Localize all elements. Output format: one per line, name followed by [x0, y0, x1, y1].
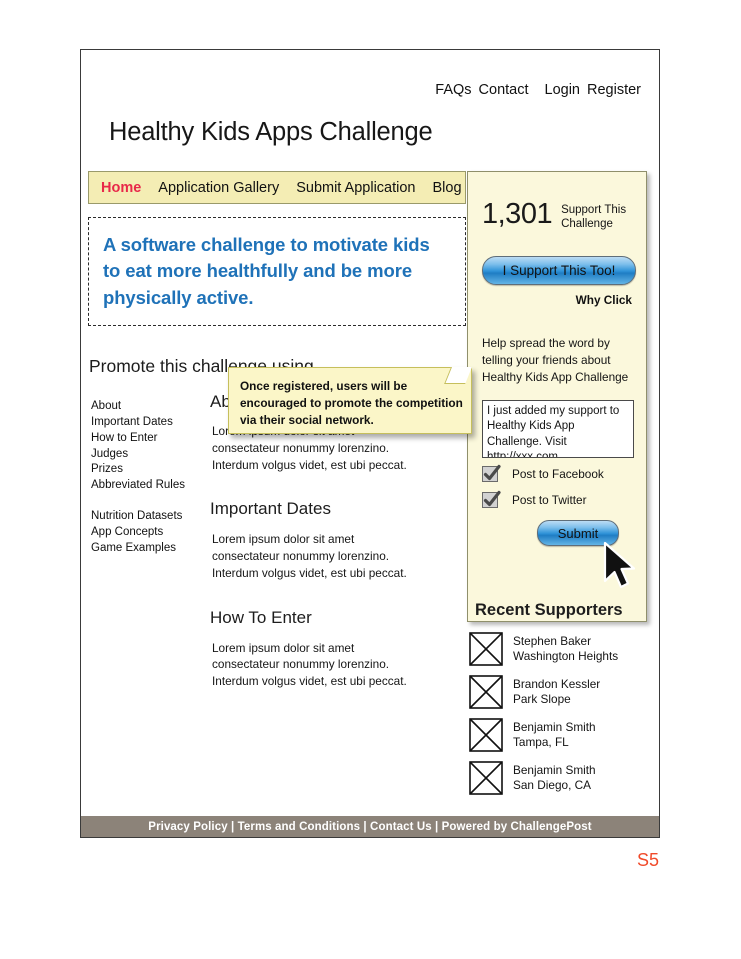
support-count-label: Support This Challenge — [561, 200, 633, 231]
hero-tagline: A software challenge to motivate kids to… — [103, 232, 451, 311]
why-click-link[interactable]: Why Click — [576, 293, 632, 307]
section-body-how-to-enter: Lorem ipsum dolor sit amet consectateur … — [212, 640, 421, 690]
section-nav-item-about[interactable]: About — [91, 399, 203, 415]
section-nav-item-judges[interactable]: Judges — [91, 447, 203, 463]
supporter-details: Stephen Baker Washington Heights — [513, 634, 618, 664]
utility-nav-group-account: Login Register — [545, 82, 641, 98]
checkmark-icon-twitter[interactable] — [482, 492, 498, 508]
utility-link-login[interactable]: Login — [545, 82, 580, 98]
share-message-input[interactable] — [482, 400, 634, 458]
section-nav-item-prizes[interactable]: Prizes — [91, 462, 203, 478]
supporter-name: Benjamin Smith — [513, 763, 596, 777]
content-section-important-dates: Important Dates Lorem ipsum dolor sit am… — [206, 499, 421, 581]
utility-link-faqs[interactable]: FAQs — [435, 82, 471, 98]
checkbox-row-twitter[interactable]: Post to Twitter — [482, 492, 587, 508]
section-nav-item-abbreviated-rules[interactable]: Abbreviated Rules — [91, 478, 203, 494]
checkmark-icon-facebook[interactable] — [482, 466, 498, 482]
supporter-location: Tampa, FL — [513, 735, 569, 749]
section-nav-group-primary: About Important Dates How to Enter Judge… — [91, 399, 203, 494]
section-nav: About Important Dates How to Enter Judge… — [91, 399, 203, 557]
annotation-callout-text: Once registered, users will be encourage… — [240, 378, 464, 428]
footer-bar: Privacy Policy | Terms and Conditions | … — [81, 816, 659, 837]
checkbox-row-facebook[interactable]: Post to Facebook — [482, 466, 604, 482]
site-title: Healthy Kids Apps Challenge — [109, 118, 432, 147]
content-column: About Lorem ipsum dolor sit amet consect… — [206, 392, 421, 716]
supporter-name: Stephen Baker — [513, 634, 591, 648]
section-nav-group-resources: Nutrition Datasets App Concepts Game Exa… — [91, 509, 203, 557]
nav-item-submit-application[interactable]: Submit Application — [296, 180, 415, 196]
nav-item-home[interactable]: Home — [101, 180, 141, 196]
utility-link-register[interactable]: Register — [587, 82, 641, 98]
annotation-callout: Once registered, users will be encourage… — [228, 367, 472, 434]
support-panel: 1,301 Support This Challenge I Support T… — [467, 171, 647, 622]
utility-nav: FAQs Contact Login Register — [435, 82, 641, 98]
support-this-too-button[interactable]: I Support This Too! — [482, 256, 636, 285]
checkbox-label-twitter: Post to Twitter — [512, 493, 587, 507]
supporter-item[interactable]: Benjamin Smith Tampa, FL — [467, 718, 652, 752]
supporter-item[interactable]: Brandon Kessler Park Slope — [467, 675, 652, 709]
hero-banner: A software challenge to motivate kids to… — [88, 217, 466, 326]
recent-supporters-heading: Recent Supporters — [475, 601, 652, 620]
content-section-how-to-enter: How To Enter Lorem ipsum dolor sit amet … — [206, 608, 421, 690]
main-nav: Home Application Gallery Submit Applicat… — [88, 171, 466, 204]
supporter-name: Brandon Kessler — [513, 677, 600, 691]
supporter-details: Brandon Kessler Park Slope — [513, 677, 600, 707]
utility-nav-group-help: FAQs Contact — [435, 82, 528, 98]
supporter-item[interactable]: Benjamin Smith San Diego, CA — [467, 761, 652, 795]
nav-item-application-gallery[interactable]: Application Gallery — [158, 180, 279, 196]
supporter-details: Benjamin Smith Tampa, FL — [513, 720, 596, 750]
section-nav-item-game-examples[interactable]: Game Examples — [91, 541, 203, 557]
checkbox-label-facebook: Post to Facebook — [512, 467, 604, 481]
section-heading-how-to-enter: How To Enter — [210, 608, 421, 628]
supporter-location: Park Slope — [513, 692, 571, 706]
section-heading-important-dates: Important Dates — [210, 499, 421, 519]
submit-button[interactable]: Submit — [537, 520, 619, 546]
section-nav-item-important-dates[interactable]: Important Dates — [91, 415, 203, 431]
supporter-location: Washington Heights — [513, 649, 618, 663]
spread-the-word-text: Help spread the word by telling your fri… — [482, 335, 640, 385]
avatar-placeholder-icon — [469, 675, 503, 709]
page-marker: S5 — [637, 850, 659, 871]
support-count: 1,301 — [482, 200, 552, 229]
avatar-placeholder-icon — [469, 718, 503, 752]
supporter-name: Benjamin Smith — [513, 720, 596, 734]
recent-supporters: Recent Supporters Stephen Baker Washingt… — [467, 601, 652, 804]
section-nav-item-nutrition-datasets[interactable]: Nutrition Datasets — [91, 509, 203, 525]
section-nav-item-app-concepts[interactable]: App Concepts — [91, 525, 203, 541]
utility-link-contact[interactable]: Contact — [479, 82, 529, 98]
avatar-placeholder-icon — [469, 761, 503, 795]
section-nav-item-how-to-enter[interactable]: How to Enter — [91, 431, 203, 447]
avatar-placeholder-icon — [469, 632, 503, 666]
nav-item-blog[interactable]: Blog — [433, 180, 462, 196]
supporter-location: San Diego, CA — [513, 778, 591, 792]
supporter-item[interactable]: Stephen Baker Washington Heights — [467, 632, 652, 666]
support-count-row: 1,301 Support This Challenge — [482, 200, 633, 231]
supporter-details: Benjamin Smith San Diego, CA — [513, 763, 596, 793]
footer-links-text[interactable]: Privacy Policy | Terms and Conditions | … — [148, 821, 591, 833]
section-body-important-dates: Lorem ipsum dolor sit amet consectateur … — [212, 531, 421, 581]
website-mockup-frame: FAQs Contact Login Register Healthy Kids… — [80, 49, 660, 838]
